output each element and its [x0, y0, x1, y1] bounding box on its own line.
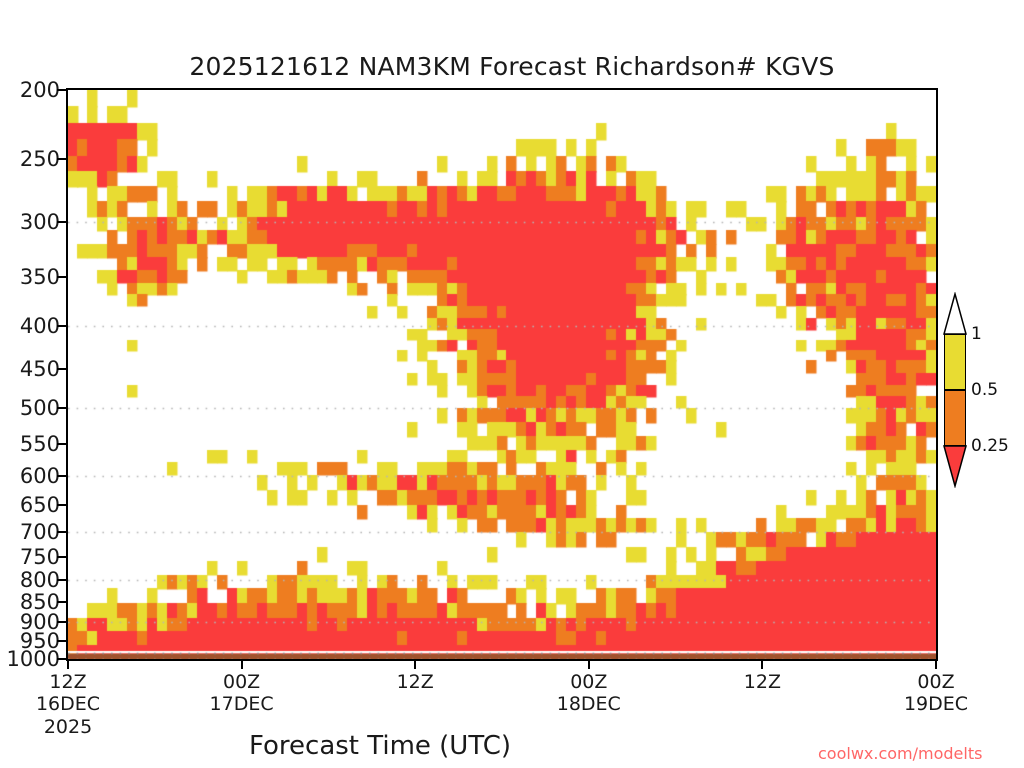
colorbar-tick-1: 1: [971, 324, 982, 344]
x-tick-time: 00Z: [904, 671, 968, 693]
x-tick-label-group: 12Z: [397, 671, 434, 693]
y-tick-mark: [57, 276, 67, 278]
x-tick-mark: [414, 660, 416, 669]
y-tick-label: 200: [0, 78, 60, 102]
y-tick-label: 700: [0, 520, 60, 544]
colorbar-tick-025: 0.25: [971, 436, 1009, 456]
x-tick-time: 12Z: [744, 671, 781, 693]
x-tick-mark: [588, 660, 590, 669]
y-tick-mark: [57, 658, 67, 660]
x-tick-time: 12Z: [36, 671, 100, 693]
y-tick-label: 1000: [0, 647, 60, 671]
x-tick-label-group: 00Z19DEC: [904, 671, 968, 716]
y-tick-mark: [57, 407, 67, 409]
y-tick-mark: [57, 368, 67, 370]
y-tick-label: 650: [0, 493, 60, 517]
y-tick-label: 350: [0, 265, 60, 289]
y-tick-mark: [57, 640, 67, 642]
x-tick-time: 00Z: [210, 671, 274, 693]
watermark: coolwx.com/modelts: [818, 744, 982, 763]
x-tick-mark: [241, 660, 243, 669]
plot-area: [66, 88, 938, 661]
x-tick-date: 16DEC: [36, 693, 100, 715]
x-tick-date: 18DEC: [557, 693, 621, 715]
y-tick-mark: [57, 601, 67, 603]
y-tick-label: 750: [0, 545, 60, 569]
y-tick-mark: [57, 556, 67, 558]
y-tick-label: 400: [0, 314, 60, 338]
x-tick-label-group: 12Z: [744, 671, 781, 693]
x-tick-date: 17DEC: [210, 693, 274, 715]
y-tick-label: 500: [0, 396, 60, 420]
x-axis-title: Forecast Time (UTC): [0, 731, 760, 761]
page-title: 2025121612 NAM3KM Forecast Richardson# K…: [0, 52, 1024, 81]
x-tick-time: 00Z: [557, 671, 621, 693]
y-tick-label: 300: [0, 210, 60, 234]
colorbar-segment-orange: [944, 390, 966, 446]
y-tick-label: 600: [0, 464, 60, 488]
x-tick-date: 19DEC: [904, 693, 968, 715]
y-tick-mark: [57, 221, 67, 223]
x-tick-mark: [935, 660, 937, 669]
y-tick-mark: [57, 443, 67, 445]
y-tick-label: 800: [0, 568, 60, 592]
colorbar-legend: 1 0.5 0.25: [938, 292, 1024, 488]
y-tick-mark: [57, 475, 67, 477]
y-tick-mark: [57, 579, 67, 581]
colorbar-tick-05: 0.5: [971, 380, 998, 400]
y-tick-mark: [57, 325, 67, 327]
x-tick-time: 12Z: [397, 671, 434, 693]
heatmap-cells: [68, 90, 936, 659]
x-tick-label-group: 12Z16DEC2025: [36, 671, 100, 738]
x-tick-label-group: 00Z17DEC: [210, 671, 274, 716]
x-tick-mark: [67, 660, 69, 669]
y-tick-mark: [57, 504, 67, 506]
x-tick-label-group: 00Z18DEC: [557, 671, 621, 716]
y-tick-label: 450: [0, 357, 60, 381]
x-tick-mark: [761, 660, 763, 669]
y-tick-mark: [57, 621, 67, 623]
y-tick-mark: [57, 89, 67, 91]
y-tick-mark: [57, 531, 67, 533]
colorbar-segment-yellow: [944, 334, 966, 390]
chart-page: 2025121612 NAM3KM Forecast Richardson# K…: [0, 0, 1024, 768]
y-tick-label: 550: [0, 432, 60, 456]
y-tick-label: 250: [0, 147, 60, 171]
y-tick-mark: [57, 158, 67, 160]
